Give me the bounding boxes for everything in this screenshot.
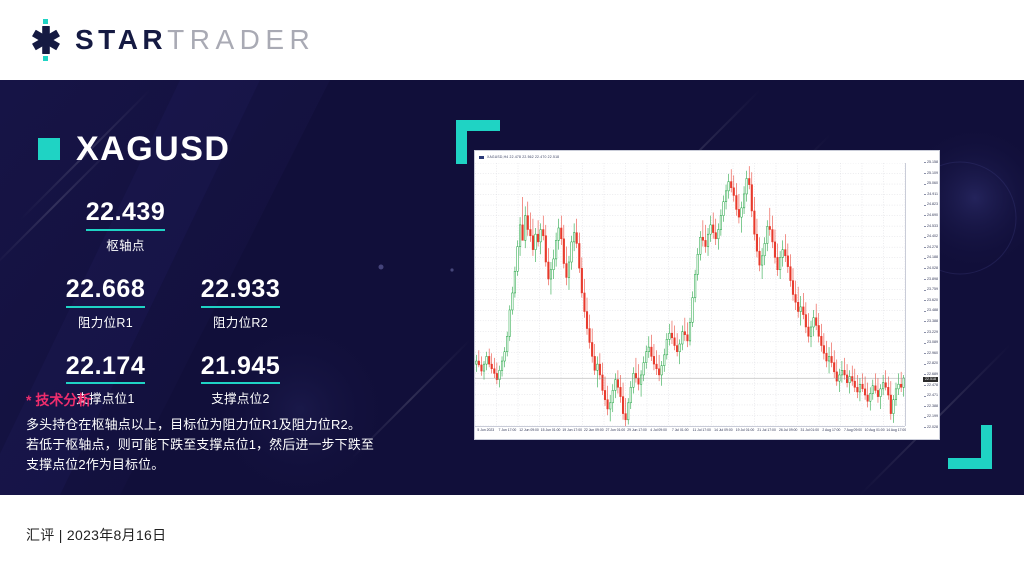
brand-primary: STAR (75, 24, 167, 55)
date-tick-label: 7 Jul 01:00 (672, 429, 689, 432)
chart-date-axis: 5 Jun 20237 Jun 17:0012 Jun 09:0015 Jun … (475, 426, 905, 439)
stat-pivot-label: 枢轴点 (58, 235, 193, 254)
date-tick-label: 11 Jul 17:00 (693, 429, 711, 432)
price-tick-label: 23.229 (927, 331, 938, 335)
date-tick-label: 7 Jun 17:00 (499, 429, 517, 432)
brand-secondary: TRADER (167, 24, 315, 55)
stat-pivot: 22.439 枢轴点 (58, 198, 193, 254)
info-column: XAGUSD 22.439 枢轴点 22.668 阻力位R1 22.933 阻力… (38, 80, 438, 495)
date-tick-label: 7 Aug 09:00 (844, 429, 862, 432)
page-footer: 汇评 | 2023年8月16日 (0, 495, 1024, 576)
price-tick-label: 24.690 (927, 214, 938, 218)
date-tick-label: 12 Jun 09:00 (519, 429, 539, 432)
price-tick-label: 24.402 (927, 235, 938, 239)
price-tick-label: 23.620 (927, 299, 938, 303)
stat-s1-value: 22.174 (66, 352, 145, 385)
star-asterisk-icon (26, 19, 66, 61)
stat-r1-value: 22.668 (66, 275, 145, 308)
price-tick-label: 22.820 (927, 362, 938, 366)
date-tick-label: 22 Jun 09:00 (584, 429, 604, 432)
date-tick-label: 14 Aug 17:00 (886, 429, 906, 432)
date-tick-label: 14 Jul 09:00 (714, 429, 732, 432)
stat-r1-label: 阻力位R1 (38, 312, 173, 331)
price-tick-label: 22.028 (927, 426, 938, 430)
price-tick-label: 22.960 (927, 352, 938, 356)
price-tick-label: 25.158 (927, 161, 938, 165)
main-stage: XAGUSD 22.439 枢轴点 22.668 阻力位R1 22.933 阻力… (0, 80, 1024, 495)
date-tick-label: 19 Jun 17:00 (562, 429, 582, 432)
price-tick-label: 23.488 (927, 309, 938, 313)
date-tick-label: 5 Jun 2023 (477, 429, 494, 432)
stat-r1: 22.668 阻力位R1 (38, 275, 173, 331)
date-tick-label: 10 Aug 01:00 (865, 429, 885, 432)
stat-row-pivot: 22.439 枢轴点 (38, 198, 398, 254)
price-tick-label: 22.471 (927, 394, 938, 398)
instrument-symbol: XAGUSD (76, 132, 230, 166)
price-tick-label: 22.199 (927, 415, 938, 419)
date-tick-label: 15 Jun 01:00 (541, 429, 561, 432)
brand-logo: STARTRADER (26, 19, 315, 61)
date-tick-label: 19 Jul 01:00 (736, 429, 754, 432)
price-tick-label: 24.028 (927, 267, 938, 271)
price-tick-label: 24.823 (927, 203, 938, 207)
brand-wordmark: STARTRADER (75, 26, 315, 54)
stat-pivot-value: 22.439 (86, 198, 165, 231)
analysis-heading: * 技术分析 (26, 390, 426, 410)
footer-caption: 汇评 | 2023年8月16日 (26, 525, 166, 545)
chart-header-marker-icon (479, 156, 484, 159)
date-tick-label: 21 Jul 17:00 (757, 429, 775, 432)
chart-price-axis: 25.15825.10925.06024.91124.82324.69024.5… (905, 163, 939, 426)
technical-analysis: * 技术分析 多头持仓在枢轴点以上，目标位为阻力位R1及阻力位R2。 若低于枢轴… (26, 390, 426, 475)
square-marker-icon (38, 138, 60, 160)
analysis-line-2: 若低于枢轴点，则可能下跌至支撑点位1，然后进一步下跌至 (26, 435, 426, 455)
price-tick-label: 24.188 (927, 256, 938, 260)
price-chart[interactable]: XAGUSD,H4 22.478 22.562 22.470 22.518 25… (474, 150, 940, 440)
date-tick-label: 26 Jul 09:00 (779, 429, 797, 432)
stat-r2: 22.933 阻力位R2 (173, 275, 308, 331)
analysis-text: 多头持仓在枢轴点以上，目标位为阻力位R1及阻力位R2。 若低于枢轴点，则可能下跌… (26, 415, 426, 475)
chart-header-strip: XAGUSD,H4 22.478 22.562 22.470 22.518 (475, 151, 939, 163)
date-tick-label: 2 Aug 17:00 (822, 429, 840, 432)
price-tick-label: 25.060 (927, 182, 938, 186)
price-tick-label: 23.089 (927, 341, 938, 345)
price-tick-label: 22.478 (927, 384, 938, 388)
page-header: STARTRADER (0, 0, 1024, 80)
price-tick-label: 23.759 (927, 288, 938, 292)
corner-bracket-bottom-right (948, 425, 992, 469)
price-tick-label: 24.533 (927, 225, 938, 229)
date-tick-label: 29 Jun 17:00 (627, 429, 647, 432)
last-price-badge: 22.518 (923, 377, 938, 383)
price-tick-label: 22.388 (927, 405, 938, 409)
instrument-title: XAGUSD (38, 132, 230, 166)
price-tick-label: 23.388 (927, 320, 938, 324)
stat-r2-label: 阻力位R2 (173, 312, 308, 331)
stat-s2-value: 21.945 (201, 352, 280, 385)
date-tick-label: 31 Jul 01:00 (801, 429, 819, 432)
price-tick-label: 24.278 (927, 246, 938, 250)
date-tick-label: 27 Jun 01:00 (606, 429, 626, 432)
pivot-stats: 22.439 枢轴点 22.668 阻力位R1 22.933 阻力位R2 22.… (38, 198, 398, 407)
price-tick-label: 23.898 (927, 278, 938, 282)
chart-plot-area (475, 163, 905, 426)
price-tick-label: 24.911 (927, 193, 938, 197)
stat-r2-value: 22.933 (201, 275, 280, 308)
price-tick-label: 25.109 (927, 172, 938, 176)
analysis-line-3: 支撑点位2作为目标位。 (26, 455, 426, 475)
analysis-line-1: 多头持仓在枢轴点以上，目标位为阻力位R1及阻力位R2。 (26, 415, 426, 435)
date-tick-label: 4 Jul 09:00 (650, 429, 667, 432)
chart-header-text: XAGUSD,H4 22.478 22.562 22.470 22.518 (487, 155, 559, 159)
stat-row-resistance: 22.668 阻力位R1 22.933 阻力位R2 (38, 275, 398, 331)
